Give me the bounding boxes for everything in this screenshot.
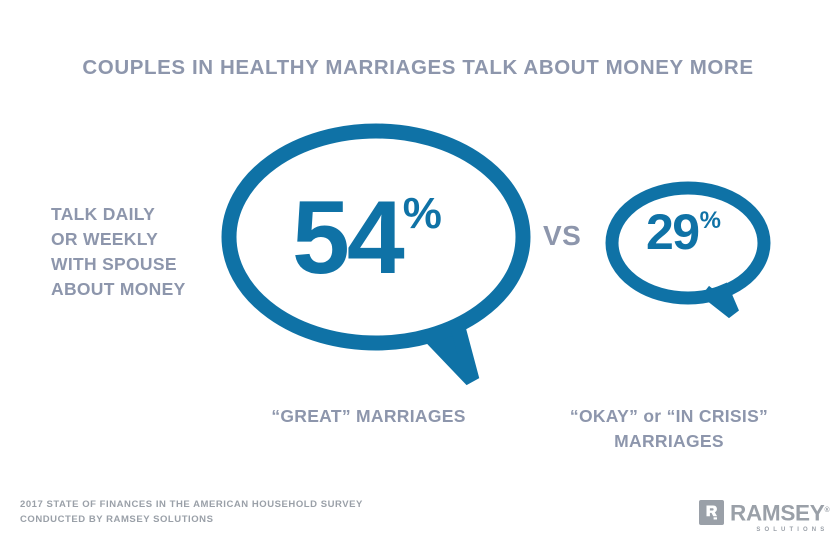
source-note-line-2: CONDUCTED BY RAMSEY SOLUTIONS <box>20 512 363 527</box>
caption-okay-crisis-line-1: “OKAY” or “IN CRISIS” <box>528 404 810 429</box>
r-square-icon <box>699 500 724 525</box>
source-note-line-1: 2017 STATE OF FINANCES IN THE AMERICAN H… <box>20 497 363 512</box>
stat-value-okay-crisis-marriages: 29% <box>646 207 721 257</box>
stat-number-okay-crisis-marriages: 29 <box>646 207 699 257</box>
ramsey-solutions-logo: RAMSEY® SOLUTIONS <box>699 500 821 532</box>
infographic-canvas: COUPLES IN HEALTHY MARRIAGES TALK ABOUT … <box>0 0 836 540</box>
stat-number-great-marriages: 54 <box>292 186 402 290</box>
caption-okay-crisis-line-2: MARRIAGES <box>528 429 810 454</box>
stat-value-great-marriages: 54% <box>292 186 442 290</box>
comparison-separator: VS <box>543 220 581 252</box>
logo-wordmark: RAMSEY® SOLUTIONS <box>730 499 829 534</box>
caption-great-marriages: “GREAT” MARRIAGES <box>196 404 541 429</box>
percent-symbol-okay-crisis-marriages: % <box>700 209 721 233</box>
caption-okay-crisis-marriages: “OKAY” or “IN CRISIS” MARRIAGES <box>528 404 810 454</box>
metric-description: TALK DAILY OR WEEKLY WITH SPOUSE ABOUT M… <box>51 202 261 302</box>
page-title: COUPLES IN HEALTHY MARRIAGES TALK ABOUT … <box>0 56 836 80</box>
registered-trademark-icon: ® <box>824 507 829 514</box>
source-note: 2017 STATE OF FINANCES IN THE AMERICAN H… <box>20 497 363 527</box>
percent-symbol-great-marriages: % <box>403 192 442 236</box>
metric-description-line-1: TALK DAILY <box>51 202 261 227</box>
logo-word-solutions: SOLUTIONS <box>730 526 829 534</box>
logo-word-ramsey: RAMSEY® <box>730 499 829 526</box>
logo-word-text: RAMSEY <box>730 501 824 526</box>
metric-description-line-3: WITH SPOUSE <box>51 252 261 277</box>
metric-description-line-4: ABOUT MONEY <box>51 277 261 302</box>
metric-description-line-2: OR WEEKLY <box>51 227 261 252</box>
